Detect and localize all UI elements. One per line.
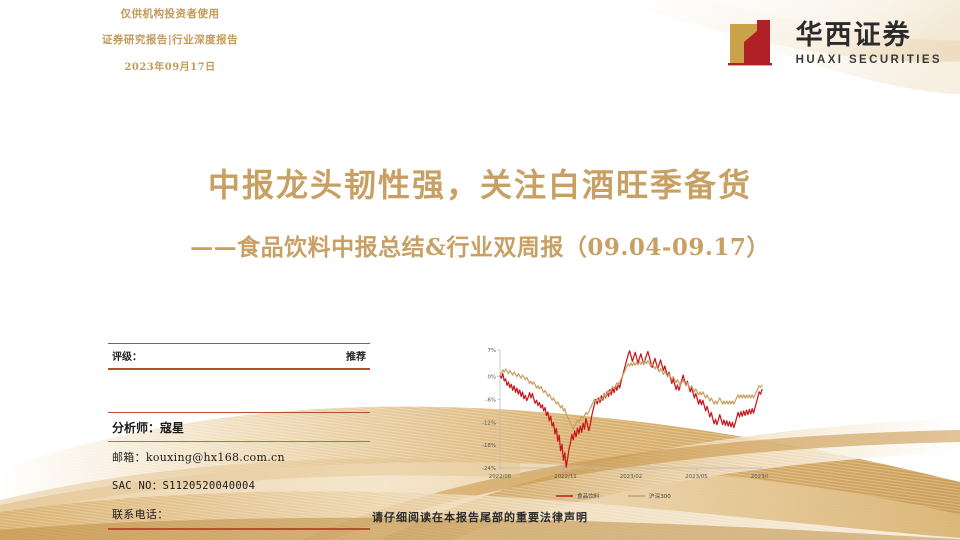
- y-axis-tick-label: 0%: [487, 375, 496, 381]
- logo-english-name: HUAXI SECURITIES: [796, 54, 942, 66]
- y-axis-tick-label: 7%: [487, 348, 496, 354]
- huaxi-h-mark-icon: [724, 18, 786, 70]
- legal-disclaimer: 请仔细阅读在本报告尾部的重要法律声明: [0, 509, 960, 525]
- chart-legend-label: 食品饮料: [577, 492, 600, 500]
- rating-label: 评级：: [112, 348, 142, 363]
- y-axis-tick-label: -24%: [482, 466, 496, 472]
- performance-chart: 7%0%-6%-12%-18%-24%2022/082022/112023/02…: [468, 342, 768, 510]
- institutional-use-note: 仅供机构投资者使用: [0, 6, 340, 21]
- x-axis-tick-label: 2023/02: [620, 474, 642, 480]
- y-axis-tick-label: -12%: [482, 420, 496, 426]
- y-axis-tick-label: -6%: [486, 397, 497, 403]
- rating-value: 推荐: [346, 348, 366, 363]
- chart-legend-label: 沪深300: [649, 492, 671, 500]
- analyst-email: 邮箱：kouxing@hx168.com.cn: [108, 442, 370, 471]
- x-axis-tick-label: 2022/08: [489, 474, 512, 480]
- x-axis-tick-label: 2023/08: [751, 474, 768, 480]
- report-cover-page: 仅供机构投资者使用 证券研究报告|行业深度报告 2023年09月17日 华西证券…: [0, 0, 960, 540]
- y-axis-tick-label: -18%: [482, 443, 496, 449]
- chart-series-line: [500, 361, 762, 430]
- page-header: 仅供机构投资者使用 证券研究报告|行业深度报告 2023年09月17日 华西证券…: [0, 0, 960, 92]
- logo-chinese-name: 华西证券: [796, 22, 942, 50]
- x-axis-tick-label: 2022/11: [554, 474, 576, 480]
- title-block: 中报龙头韧性强，关注白酒旺季备货 ——食品饮料中报总结&行业双周报（09.04-…: [0, 160, 960, 262]
- page-title: 中报龙头韧性强，关注白酒旺季备货: [0, 160, 960, 206]
- divider-bottom: [108, 528, 370, 529]
- header-meta-block: 仅供机构投资者使用 证券研究报告|行业深度报告 2023年09月17日: [0, 6, 340, 73]
- analyst-info-panel: 评级： 推荐 分析师：寇星 邮箱：kouxing@hx168.com.cn SA…: [108, 343, 370, 530]
- report-category: 证券研究报告|行业深度报告: [0, 32, 340, 47]
- analyst-sac-number: SAC NO：S1120520040004: [108, 471, 370, 499]
- page-subtitle: ——食品饮料中报总结&行业双周报（09.04-09.17）: [0, 228, 960, 262]
- chart-series-line: [500, 351, 762, 467]
- logo-text-block: 华西证券 HUAXI SECURITIES: [796, 22, 942, 65]
- company-logo: 华西证券 HUAXI SECURITIES: [724, 16, 942, 72]
- report-date: 2023年09月17日: [0, 58, 340, 73]
- analyst-name: 分析师：寇星: [108, 413, 370, 441]
- rating-row: 评级： 推荐: [108, 344, 370, 368]
- spacer: [108, 370, 370, 412]
- chart-svg: 7%0%-6%-12%-18%-24%2022/082022/112023/02…: [468, 342, 768, 510]
- x-axis-tick-label: 2023/05: [685, 474, 707, 480]
